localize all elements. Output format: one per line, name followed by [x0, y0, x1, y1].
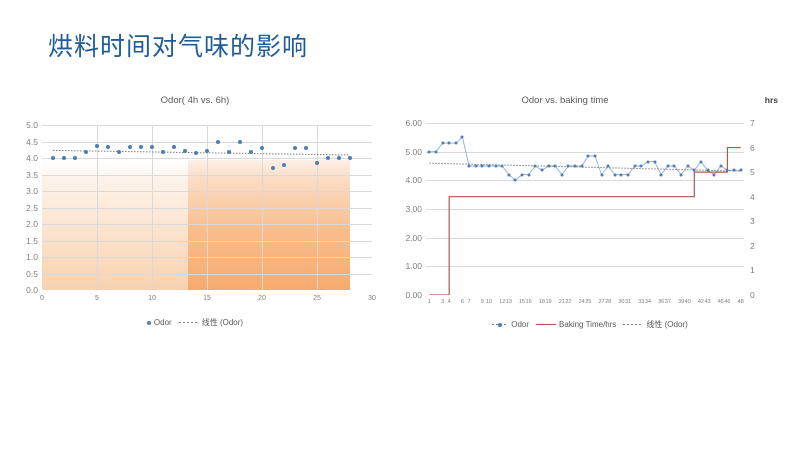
x-tick-label: 5 [95, 295, 99, 302]
x-tick-label: 7 [468, 299, 471, 305]
y-tick-label: 2.5 [10, 203, 38, 213]
marker-swatch-odor [147, 321, 151, 325]
data-point [194, 151, 198, 155]
x-tick-label: 30 [618, 299, 624, 305]
legend-label-odor: Odor [154, 318, 172, 327]
y2-tick-label: 6 [750, 143, 776, 153]
legend-label-baking-time: Baking Time/hrs [559, 320, 616, 329]
y-tick-label: 0.00 [390, 290, 422, 300]
data-point [600, 173, 603, 176]
y-tick-label: 3.00 [390, 204, 422, 214]
y-tick-label: 1.00 [390, 261, 422, 271]
data-point [428, 150, 431, 153]
data-point [514, 179, 517, 182]
x-axis-left-chart: 051015202530 [42, 295, 372, 309]
data-point [73, 156, 77, 160]
data-point [106, 145, 110, 149]
data-point [238, 140, 242, 144]
x-tick-label: 24 [579, 299, 585, 305]
data-point [693, 169, 696, 172]
legend-item-odor: Odor [147, 318, 172, 327]
x-tick-label: 33 [638, 299, 644, 305]
y-tick-label: 0.0 [10, 285, 38, 295]
data-point [304, 146, 308, 150]
data-point [315, 161, 319, 165]
data-point [726, 169, 729, 172]
y-tick-label: 4.0 [10, 153, 38, 163]
data-point [62, 156, 66, 160]
x-tick-label: 10 [148, 295, 156, 302]
data-point [686, 165, 689, 168]
chart-title-right: Odor vs. baking time [390, 95, 740, 106]
page-title: 烘料时间对气味的影响 [48, 32, 308, 62]
data-point [666, 165, 669, 168]
y-tick-label: 1.5 [10, 236, 38, 246]
chart-odor-4h-vs-6h: Odor( 4h vs. 6h) 0.00.51.01.52.02.53.03.… [10, 95, 380, 345]
y-tick-label: 5.0 [10, 120, 38, 130]
x-tick-label: 43 [704, 299, 710, 305]
data-point [474, 165, 477, 168]
x-tick-label: 30 [368, 295, 376, 302]
x-tick-label: 3 [441, 299, 444, 305]
x-tick-label: 34 [645, 299, 651, 305]
data-point [293, 146, 297, 150]
data-point [580, 165, 583, 168]
y-tick-label: 4.00 [390, 175, 422, 185]
y2-tick-label: 0 [750, 290, 776, 300]
x-tick-label: 22 [565, 299, 571, 305]
x-tick-label: 10 [486, 299, 492, 305]
data-point [680, 173, 683, 176]
legend-label-trendline: 线性 (Odor) [202, 317, 243, 328]
x-tick-label: 48 [738, 299, 744, 305]
data-point [337, 156, 341, 160]
y-tick-label: 6.00 [390, 118, 422, 128]
x-tick-label: 25 [313, 295, 321, 302]
x-tick-label: 15 [203, 295, 211, 302]
data-point [172, 145, 176, 149]
data-point [699, 160, 702, 163]
data-point [494, 165, 497, 168]
data-point [540, 169, 543, 172]
x-tick-label: 45 [718, 299, 724, 305]
x-tick-label: 25 [585, 299, 591, 305]
data-point [128, 145, 132, 149]
data-point [554, 165, 557, 168]
legend-left-chart: Odor线性 (Odor) [10, 317, 380, 328]
y-tick-label: 1.0 [10, 252, 38, 262]
y2-tick-label: 1 [750, 265, 776, 275]
data-point [95, 144, 99, 148]
y-tick-label: 3.5 [10, 170, 38, 180]
data-point [205, 149, 209, 153]
x-tick-label: 37 [665, 299, 671, 305]
legend-right-chart: OdorBaking Time/hrs线性 (Odor) [390, 319, 790, 330]
marker-line-swatch-odor [492, 323, 508, 327]
data-point [547, 165, 550, 168]
x-tick-label: 42 [698, 299, 704, 305]
y-tick-label: 0.5 [10, 269, 38, 279]
x-axis-right-chart: 1346791012131516181921222425272830313334… [426, 299, 744, 311]
y2-tick-label: 3 [750, 216, 776, 226]
x-tick-label: 12 [499, 299, 505, 305]
x-tick-label: 27 [598, 299, 604, 305]
x-tick-label: 0 [40, 295, 44, 302]
data-point [646, 160, 649, 163]
legend-label-trendline: 线性 (Odor) [646, 319, 687, 330]
data-point [461, 136, 464, 139]
legend-item-trendline: 线性 (Odor) [623, 319, 687, 330]
data-point [348, 156, 352, 160]
x-tick-label: 1 [428, 299, 431, 305]
data-point [139, 145, 143, 149]
dashed-line-swatch [179, 322, 199, 323]
data-point [454, 142, 457, 145]
data-point [560, 173, 563, 176]
x-tick-label: 20 [258, 295, 266, 302]
x-tick-label: 46 [724, 299, 730, 305]
legend-item-trendline: 线性 (Odor) [179, 317, 243, 328]
data-point [282, 163, 286, 167]
y2-tick-label: 4 [750, 192, 776, 202]
x-tick-label: 4 [448, 299, 451, 305]
data-point [706, 169, 709, 172]
x-tick-label: 6 [461, 299, 464, 305]
y2-tick-label: 5 [750, 167, 776, 177]
data-point [633, 165, 636, 168]
x-tick-label: 18 [539, 299, 545, 305]
data-point [521, 173, 524, 176]
chart-title-left: Odor( 4h vs. 6h) [10, 95, 380, 106]
data-point [653, 160, 656, 163]
x-tick-label: 15 [519, 299, 525, 305]
y-tick-label: 3.0 [10, 186, 38, 196]
x-tick-label: 9 [481, 299, 484, 305]
x-tick-label: 13 [506, 299, 512, 305]
x-tick-label: 31 [625, 299, 631, 305]
data-point [574, 165, 577, 168]
slide-canvas: 烘料时间对气味的影响 Odor( 4h vs. 6h) 0.00.51.01.5… [0, 0, 800, 450]
data-point [326, 156, 330, 160]
data-point [216, 140, 220, 144]
dashed-line-swatch [623, 324, 643, 325]
data-point [739, 169, 742, 172]
data-point [733, 169, 736, 172]
plot-area-right [426, 123, 744, 295]
data-point [448, 142, 451, 145]
data-point [441, 142, 444, 145]
data-point [481, 165, 484, 168]
data-point [613, 173, 616, 176]
data-point [567, 165, 570, 168]
data-point [673, 165, 676, 168]
data-point [593, 154, 596, 157]
x-tick-label: 40 [685, 299, 691, 305]
secondary-axis-unit-label: hrs [765, 95, 778, 105]
data-point [227, 150, 231, 154]
data-point [271, 166, 275, 170]
data-point [620, 173, 623, 176]
chart-odor-vs-baking-time: Odor vs. baking time hrs 0.001.002.003.0… [390, 95, 790, 345]
data-point [527, 173, 530, 176]
data-point [507, 173, 510, 176]
x-tick-label: 39 [678, 299, 684, 305]
data-point [660, 173, 663, 176]
x-tick-label: 36 [658, 299, 664, 305]
data-point [719, 165, 722, 168]
data-point [51, 156, 55, 160]
x-tick-label: 16 [526, 299, 532, 305]
data-point [84, 150, 88, 154]
x-tick-label: 28 [605, 299, 611, 305]
data-point [150, 145, 154, 149]
data-point [260, 146, 264, 150]
x-tick-label: 19 [545, 299, 551, 305]
data-point [161, 150, 165, 154]
data-point [587, 154, 590, 157]
data-point [117, 150, 121, 154]
y-tick-label: 2.00 [390, 233, 422, 243]
plot-area-left [42, 125, 372, 290]
legend-item-odor: Odor [492, 320, 529, 329]
data-point [468, 165, 471, 168]
y2-tick-label: 7 [750, 118, 776, 128]
y-tick-label: 4.5 [10, 137, 38, 147]
data-point [183, 149, 187, 153]
data-point [434, 150, 437, 153]
legend-label-odor: Odor [511, 320, 529, 329]
data-point [487, 165, 490, 168]
y-tick-label: 2.0 [10, 219, 38, 229]
y-tick-label: 5.00 [390, 147, 422, 157]
solid-line-swatch [536, 324, 556, 326]
data-point [501, 165, 504, 168]
data-point [249, 150, 253, 154]
legend-item-baking-time: Baking Time/hrs [536, 320, 616, 329]
data-point [640, 165, 643, 168]
data-point [627, 173, 630, 176]
x-tick-label: 21 [559, 299, 565, 305]
data-point [534, 165, 537, 168]
series-lines-right [426, 123, 744, 295]
data-point [607, 165, 610, 168]
y2-tick-label: 2 [750, 241, 776, 251]
data-point [713, 173, 716, 176]
